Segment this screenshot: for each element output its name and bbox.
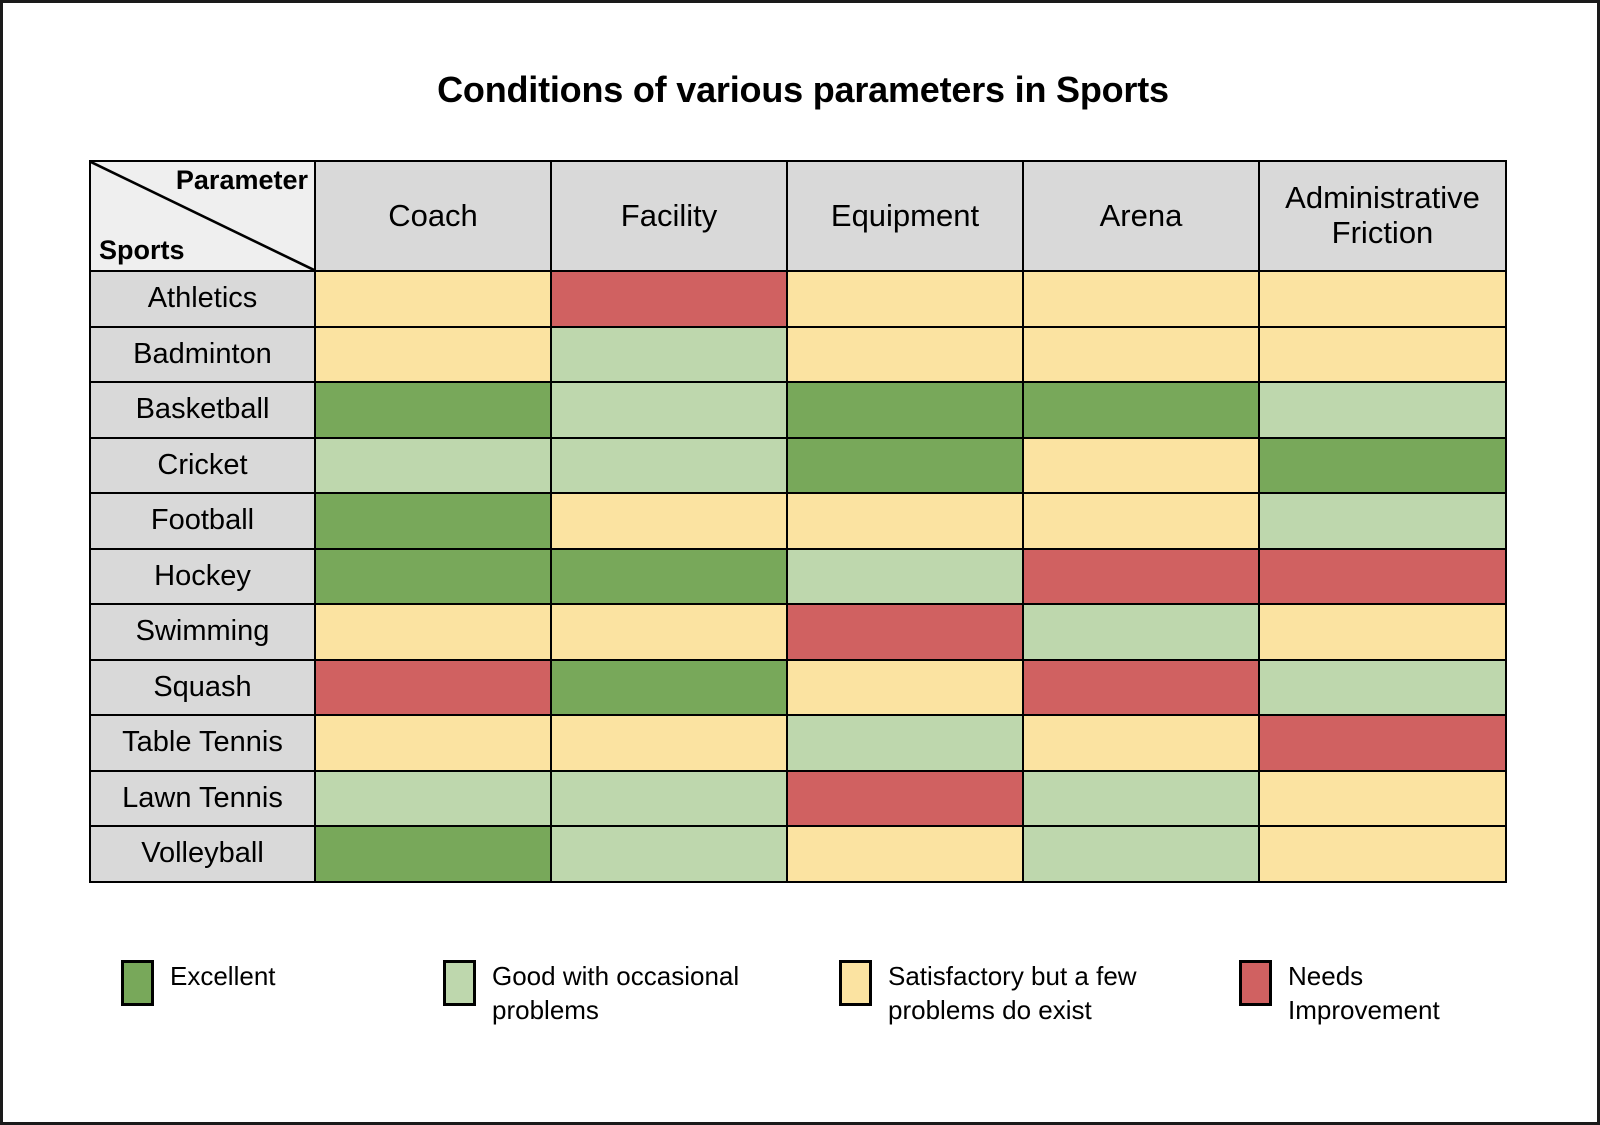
cell-lawn-tennis-facility — [551, 771, 787, 827]
cell-swimming-arena — [1023, 604, 1259, 660]
cell-squash-arena — [1023, 660, 1259, 716]
cell-swimming-administrative-friction — [1259, 604, 1506, 660]
cell-hockey-equipment — [787, 549, 1023, 605]
cell-athletics-equipment — [787, 271, 1023, 327]
table-row: Badminton — [90, 327, 1506, 383]
legend-swatch-good — [443, 960, 476, 1006]
page-title: Conditions of various parameters in Spor… — [3, 69, 1600, 111]
cell-squash-administrative-friction — [1259, 660, 1506, 716]
table-row: Swimming — [90, 604, 1506, 660]
cell-cricket-administrative-friction — [1259, 438, 1506, 494]
cell-table-tennis-equipment — [787, 715, 1023, 771]
table-body: AthleticsBadmintonBasketballCricketFootb… — [90, 271, 1506, 882]
cell-hockey-arena — [1023, 549, 1259, 605]
table-row: Lawn Tennis — [90, 771, 1506, 827]
cell-badminton-equipment — [787, 327, 1023, 383]
cell-cricket-facility — [551, 438, 787, 494]
cell-lawn-tennis-administrative-friction — [1259, 771, 1506, 827]
cell-football-arena — [1023, 493, 1259, 549]
row-label-squash: Squash — [90, 660, 315, 716]
row-label-hockey: Hockey — [90, 549, 315, 605]
row-label-cricket: Cricket — [90, 438, 315, 494]
corner-axis-cell: Parameter Sports — [90, 161, 315, 271]
cell-table-tennis-arena — [1023, 715, 1259, 771]
cell-basketball-equipment — [787, 382, 1023, 438]
row-label-basketball: Basketball — [90, 382, 315, 438]
cell-lawn-tennis-coach — [315, 771, 551, 827]
cell-volleyball-equipment — [787, 826, 1023, 882]
cell-basketball-arena — [1023, 382, 1259, 438]
row-label-badminton: Badminton — [90, 327, 315, 383]
cell-badminton-arena — [1023, 327, 1259, 383]
legend-item-good: Good with occasional problems — [443, 958, 839, 1028]
cell-table-tennis-administrative-friction — [1259, 715, 1506, 771]
column-header-equipment: Equipment — [787, 161, 1023, 271]
cell-badminton-facility — [551, 327, 787, 383]
table-row: Football — [90, 493, 1506, 549]
column-header-facility: Facility — [551, 161, 787, 271]
cell-badminton-administrative-friction — [1259, 327, 1506, 383]
column-header-arena: Arena — [1023, 161, 1259, 271]
legend-label-excellent: Excellent — [170, 958, 276, 994]
cell-squash-coach — [315, 660, 551, 716]
row-label-volleyball: Volleyball — [90, 826, 315, 882]
cell-basketball-facility — [551, 382, 787, 438]
cell-football-coach — [315, 493, 551, 549]
legend-item-satisfactory: Satisfactory but a few problems do exist — [839, 958, 1239, 1028]
heatmap-table: Parameter Sports Coach Facility Equipmen… — [89, 160, 1507, 883]
legend-item-excellent: Excellent — [121, 958, 443, 1006]
cell-athletics-arena — [1023, 271, 1259, 327]
table-row: Table Tennis — [90, 715, 1506, 771]
cell-lawn-tennis-arena — [1023, 771, 1259, 827]
cell-squash-equipment — [787, 660, 1023, 716]
row-label-swimming: Swimming — [90, 604, 315, 660]
column-axis-label: Parameter — [176, 166, 308, 194]
row-label-football: Football — [90, 493, 315, 549]
cell-hockey-administrative-friction — [1259, 549, 1506, 605]
table-row: Cricket — [90, 438, 1506, 494]
cell-hockey-facility — [551, 549, 787, 605]
cell-table-tennis-facility — [551, 715, 787, 771]
header-row: Parameter Sports Coach Facility Equipmen… — [90, 161, 1506, 271]
cell-football-administrative-friction — [1259, 493, 1506, 549]
table-row: Squash — [90, 660, 1506, 716]
cell-cricket-equipment — [787, 438, 1023, 494]
column-header-administrative-friction: Administrative Friction — [1259, 161, 1506, 271]
legend: Excellent Good with occasional problems … — [121, 958, 1521, 1028]
cell-basketball-administrative-friction — [1259, 382, 1506, 438]
cell-swimming-facility — [551, 604, 787, 660]
cell-football-equipment — [787, 493, 1023, 549]
cell-table-tennis-coach — [315, 715, 551, 771]
cell-volleyball-facility — [551, 826, 787, 882]
cell-volleyball-arena — [1023, 826, 1259, 882]
table-head: Parameter Sports Coach Facility Equipmen… — [90, 161, 1506, 271]
cell-cricket-arena — [1023, 438, 1259, 494]
table-row: Basketball — [90, 382, 1506, 438]
legend-swatch-needs-improvement — [1239, 960, 1272, 1006]
cell-volleyball-coach — [315, 826, 551, 882]
cell-football-facility — [551, 493, 787, 549]
table-row: Hockey — [90, 549, 1506, 605]
cell-volleyball-administrative-friction — [1259, 826, 1506, 882]
legend-swatch-satisfactory — [839, 960, 872, 1006]
cell-athletics-coach — [315, 271, 551, 327]
legend-swatch-excellent — [121, 960, 154, 1006]
cell-badminton-coach — [315, 327, 551, 383]
row-label-athletics: Athletics — [90, 271, 315, 327]
row-label-table-tennis: Table Tennis — [90, 715, 315, 771]
legend-item-needs-improvement: Needs Improvement — [1239, 958, 1519, 1028]
cell-swimming-equipment — [787, 604, 1023, 660]
cell-lawn-tennis-equipment — [787, 771, 1023, 827]
cell-hockey-coach — [315, 549, 551, 605]
cell-athletics-administrative-friction — [1259, 271, 1506, 327]
table-row: Athletics — [90, 271, 1506, 327]
column-header-coach: Coach — [315, 161, 551, 271]
legend-label-good: Good with occasional problems — [492, 958, 792, 1028]
table-row: Volleyball — [90, 826, 1506, 882]
legend-label-satisfactory: Satisfactory but a few problems do exist — [888, 958, 1188, 1028]
cell-squash-facility — [551, 660, 787, 716]
cell-swimming-coach — [315, 604, 551, 660]
cell-cricket-coach — [315, 438, 551, 494]
row-label-lawn-tennis: Lawn Tennis — [90, 771, 315, 827]
chart-canvas: Conditions of various parameters in Spor… — [0, 0, 1600, 1125]
cell-athletics-facility — [551, 271, 787, 327]
cell-basketball-coach — [315, 382, 551, 438]
legend-label-needs-improvement: Needs Improvement — [1288, 958, 1519, 1028]
row-axis-label: Sports — [99, 236, 185, 264]
